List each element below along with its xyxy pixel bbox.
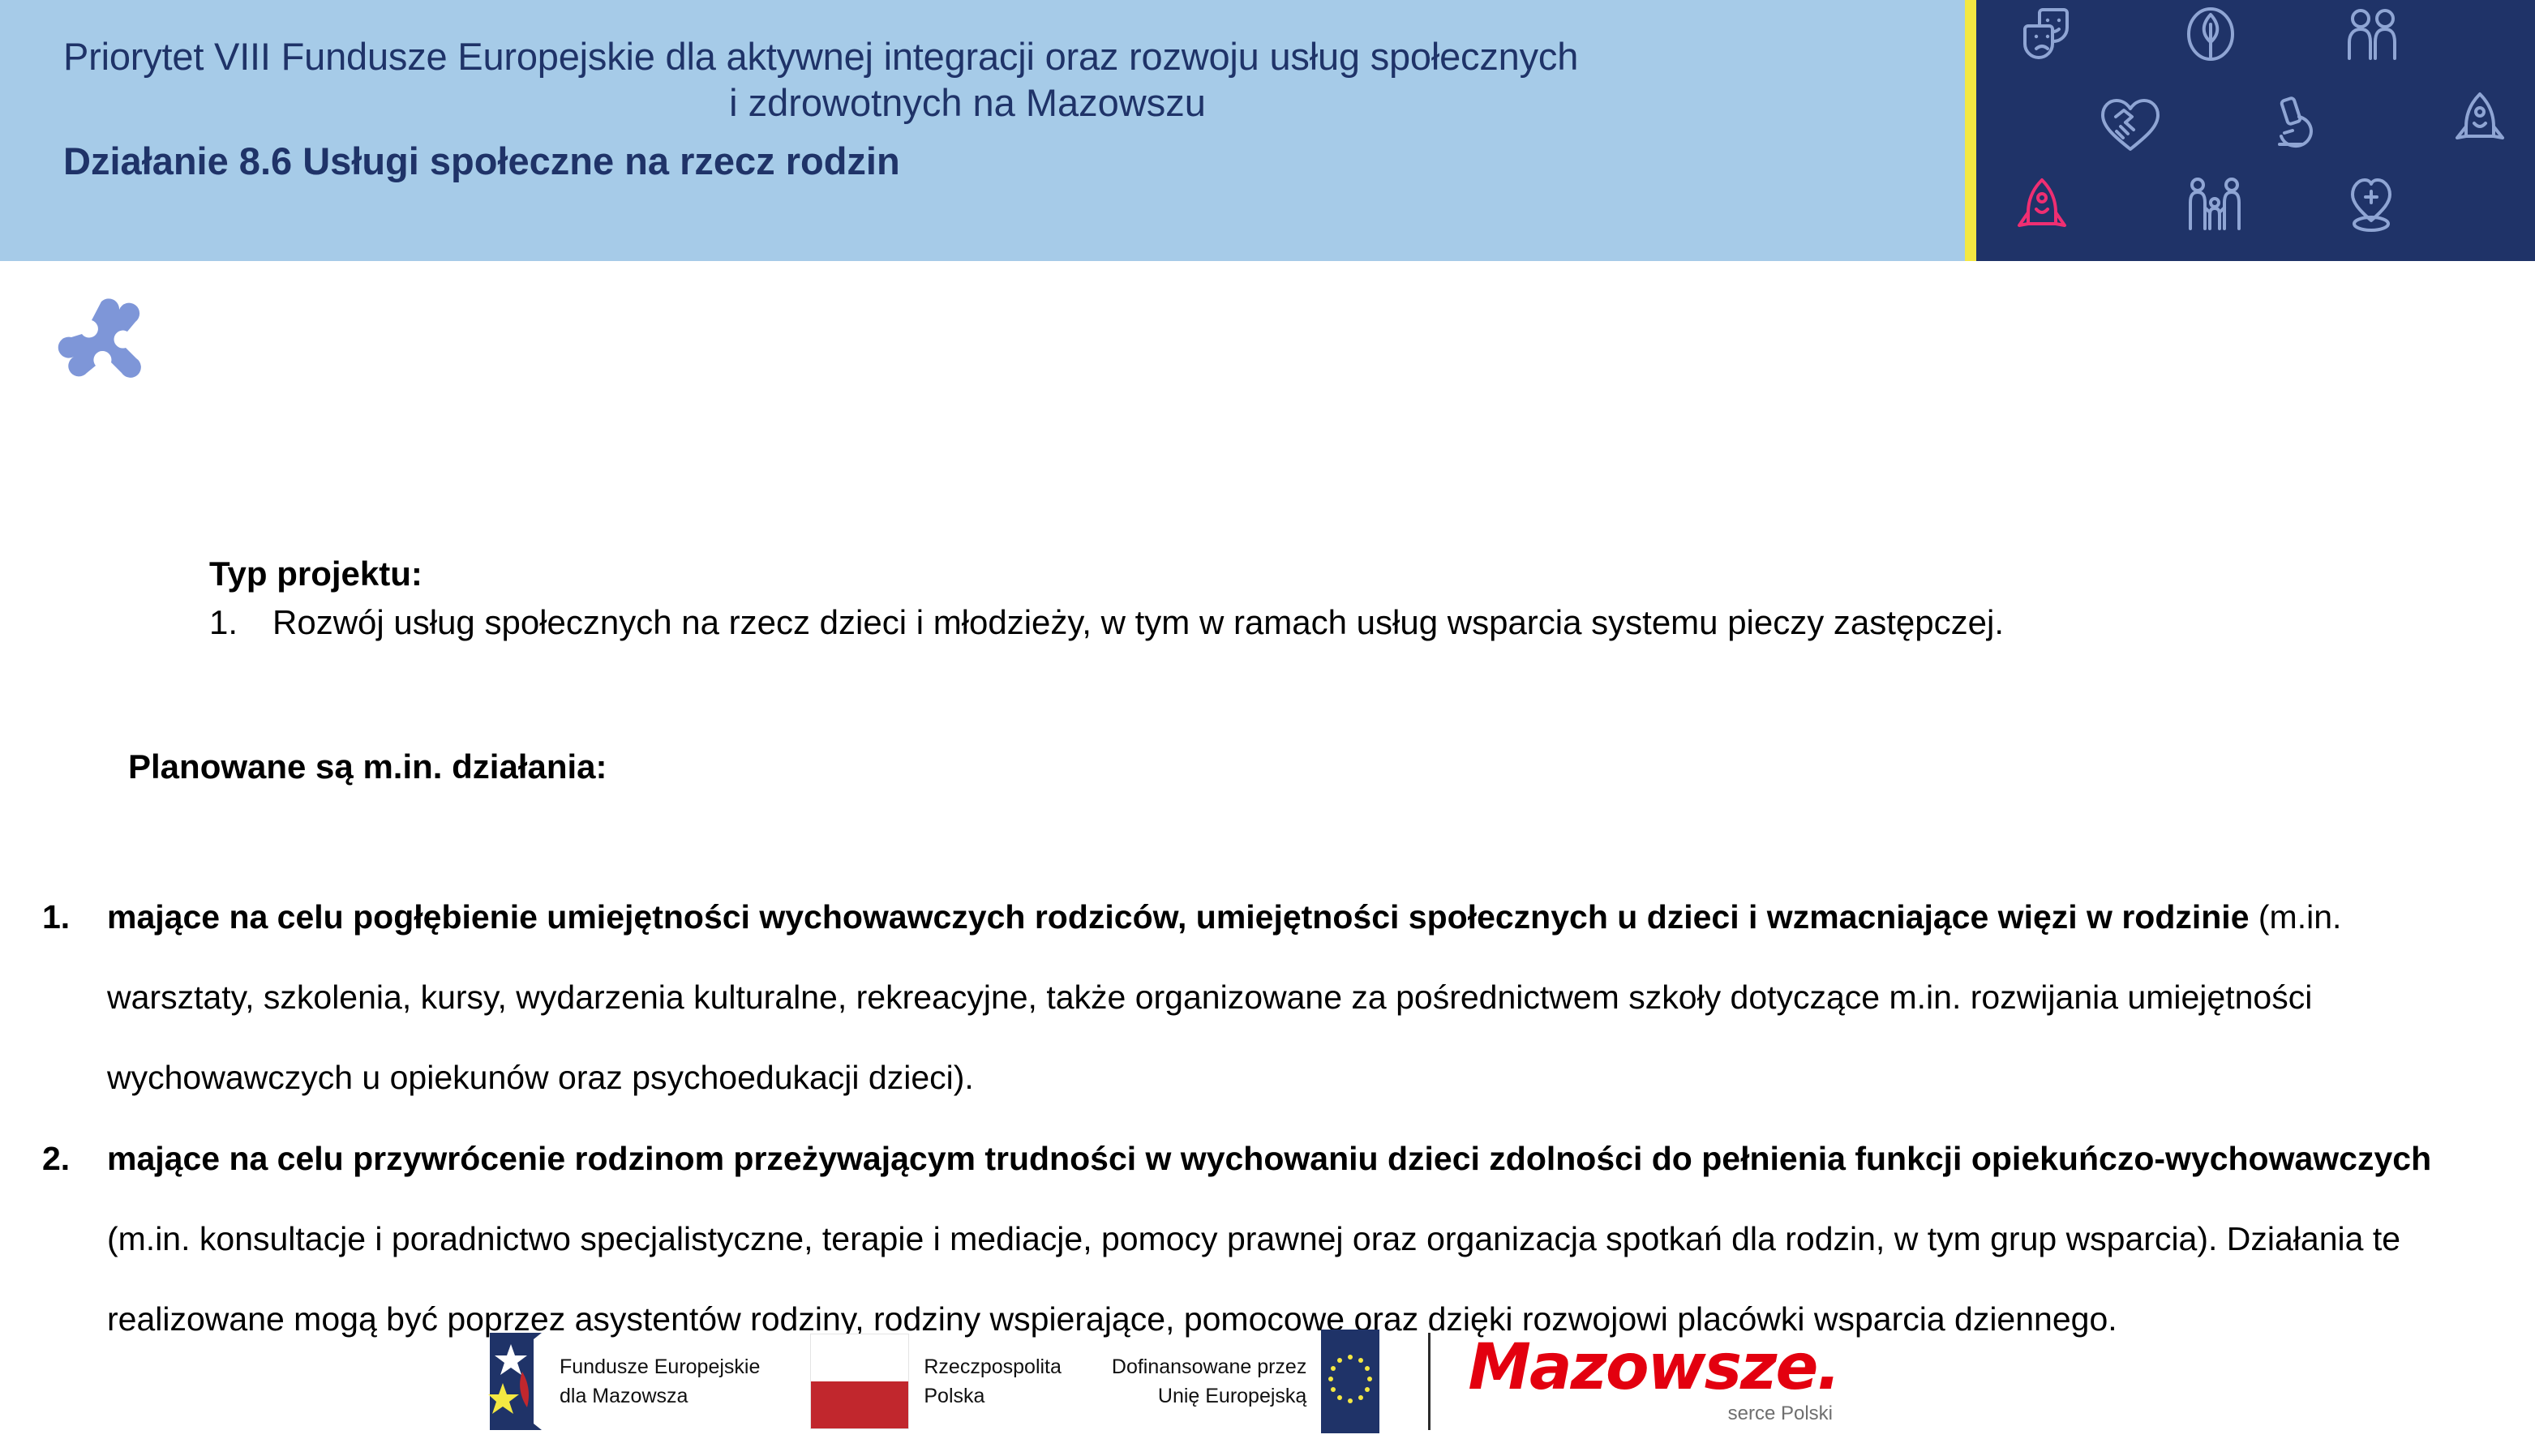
leaf-in-circle-icon — [2185, 6, 2236, 65]
planowane-heading: Planowane są m.in. działania: — [128, 747, 607, 786]
typ-projektu-block: Typ projektu: 1. Rozwój usług społecznyc… — [209, 553, 2480, 644]
handshake-heart-icon — [2100, 96, 2161, 154]
fundusze-europejskie-label: Fundusze Europejskie dla Mazowsza — [560, 1352, 760, 1411]
list-item-bold: mające na celu przywrócenie rodzinom prz… — [107, 1140, 2431, 1177]
mazowsze-wordmark: Mazowsze. — [1468, 1338, 1839, 1398]
fundusze-europejskie-flag-icon — [487, 1330, 545, 1433]
header-title-block: Priorytet VIII Fundusze Europejskie dla … — [63, 34, 1928, 183]
rocket-pink-icon — [2015, 177, 2069, 237]
list-item: 1. mające na celu pogłębienie umiejętnoś… — [32, 877, 2481, 1119]
mazowsze-tagline: serce Polski — [1728, 1402, 1833, 1425]
header-title-panel: Priorytet VIII Fundusze Europejskie dla … — [0, 0, 1965, 261]
actions-list: 1. mające na celu pogłębienie umiejętnoś… — [32, 877, 2481, 1360]
rzeczpospolita-polska-label: Rzeczpospolita Polska — [924, 1352, 1062, 1411]
typ-projektu-item-text: Rozwój usług społecznych na rzecz dzieci… — [272, 601, 2480, 645]
puzzle-piece-icon — [57, 292, 162, 397]
typ-projektu-item: 1. Rozwój usług społecznych na rzecz dzi… — [209, 601, 2480, 645]
ue-label-line-1: Dofinansowane przez — [1112, 1352, 1306, 1381]
poland-flag-red-band — [811, 1381, 908, 1428]
rp-label-line-1: Rzeczpospolita — [924, 1352, 1062, 1381]
rp-label-line-2: Polska — [924, 1381, 1062, 1411]
theatre-masks-icon — [2023, 6, 2080, 65]
decorative-icon-grid — [1976, 0, 2535, 261]
european-union-flag-icon — [1321, 1330, 1379, 1433]
heart-location-pin-icon — [2343, 175, 2400, 235]
poland-flag-icon — [810, 1334, 909, 1429]
typ-projektu-item-number: 1. — [209, 601, 272, 645]
priority-title-line-2: i zdrowotnych na Mazowszu — [63, 80, 1872, 125]
dzialanie-title: Działanie 8.6 Usługi społeczne na rzecz … — [63, 139, 1928, 183]
slide-content: Typ projektu: 1. Rozwój usług społecznyc… — [0, 261, 2535, 1315]
typ-projektu-heading: Typ projektu: — [209, 553, 2480, 596]
fe-label-line-2: dla Mazowsza — [560, 1381, 760, 1411]
two-people-icon — [2343, 8, 2401, 63]
priority-title-line-1: Priorytet VIII Fundusze Europejskie dla … — [63, 34, 1928, 79]
fundusze-europejskie-logo: Fundusze Europejskie dla Mazowsza — [487, 1330, 760, 1433]
list-item-number: 1. — [32, 877, 107, 1119]
unia-europejska-label: Dofinansowane przez Unię Europejską — [1112, 1352, 1306, 1411]
page-footer: Fundusze Europejskie dla Mazowsza Rzeczp… — [0, 1310, 2535, 1456]
rocket-outline-icon — [2453, 91, 2507, 149]
header-yellow-divider — [1965, 0, 1976, 261]
ue-label-line-2: Unię Europejską — [1112, 1381, 1306, 1411]
list-item-text: mające na celu pogłębienie umiejętności … — [107, 877, 2481, 1119]
footer-vertical-separator — [1428, 1333, 1430, 1430]
footer-logo-strip: Fundusze Europejskie dla Mazowsza Rzeczp… — [487, 1330, 1839, 1433]
poland-flag-white-band — [811, 1334, 908, 1381]
header-icon-panel — [1976, 0, 2535, 261]
rzeczpospolita-polska-logo: Rzeczpospolita Polska — [810, 1334, 1062, 1429]
page-header: Priorytet VIII Fundusze Europejskie dla … — [0, 0, 2535, 261]
family-icon — [2185, 177, 2244, 235]
microscope-icon — [2268, 96, 2322, 154]
list-item-bold: mające na celu pogłębienie umiejętności … — [107, 898, 2250, 936]
unia-europejska-logo: Dofinansowane przez Unię Europejską — [1112, 1330, 1379, 1433]
mazowsze-logo: Mazowsze. serce Polski — [1468, 1338, 1839, 1425]
fe-label-line-1: Fundusze Europejskie — [560, 1352, 760, 1381]
